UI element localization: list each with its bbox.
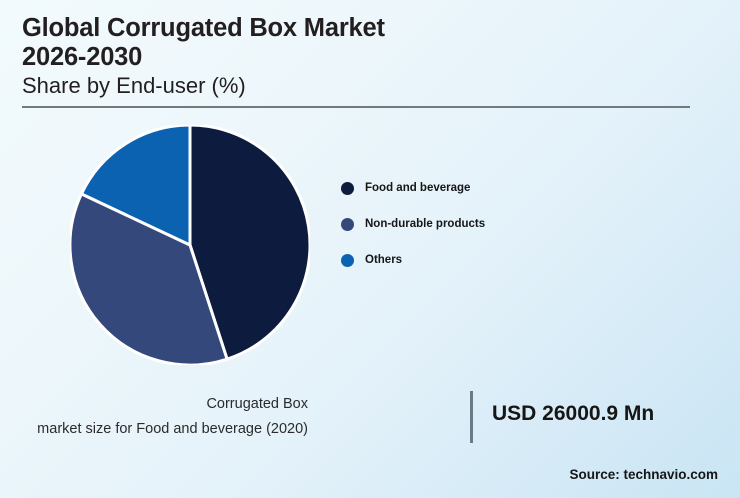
callout-description-line-2: market size for Food and beverage (2020) [0, 417, 308, 442]
chart-header: Global Corrugated Box Market 2026-2030 S… [22, 14, 692, 99]
legend-item-others[interactable]: Others [341, 242, 601, 278]
market-size-callout: Corrugated Box market size for Food and … [60, 392, 700, 450]
legend-dot-icon [341, 218, 354, 231]
legend-dot-icon [341, 254, 354, 267]
legend-label: Food and beverage [365, 182, 470, 194]
infographic-canvas: Global Corrugated Box Market 2026-2030 S… [0, 0, 740, 498]
pie-chart-svg [70, 125, 310, 365]
callout-vertical-divider [470, 391, 473, 443]
pie-slices [70, 125, 310, 365]
page-title-line-1: Global Corrugated Box Market [22, 14, 692, 43]
legend-dot-icon [341, 182, 354, 195]
page-subtitle: Share by End-user (%) [22, 73, 692, 99]
legend-item-non-durable-products[interactable]: Non-durable products [341, 206, 601, 242]
page-title-line-2: 2026-2030 [22, 43, 692, 72]
legend-label: Others [365, 254, 402, 266]
pie-chart [70, 125, 310, 365]
chart-legend: Food and beverage Non-durable products O… [341, 170, 601, 278]
legend-item-food-and-beverage[interactable]: Food and beverage [341, 170, 601, 206]
callout-value: USD 26000.9 Mn [492, 402, 654, 426]
source-attribution: Source: technavio.com [569, 467, 718, 482]
callout-description-line-1: Corrugated Box [0, 392, 308, 417]
title-divider-rule [22, 106, 690, 108]
legend-label: Non-durable products [365, 218, 485, 230]
callout-description: Corrugated Box market size for Food and … [0, 392, 308, 443]
